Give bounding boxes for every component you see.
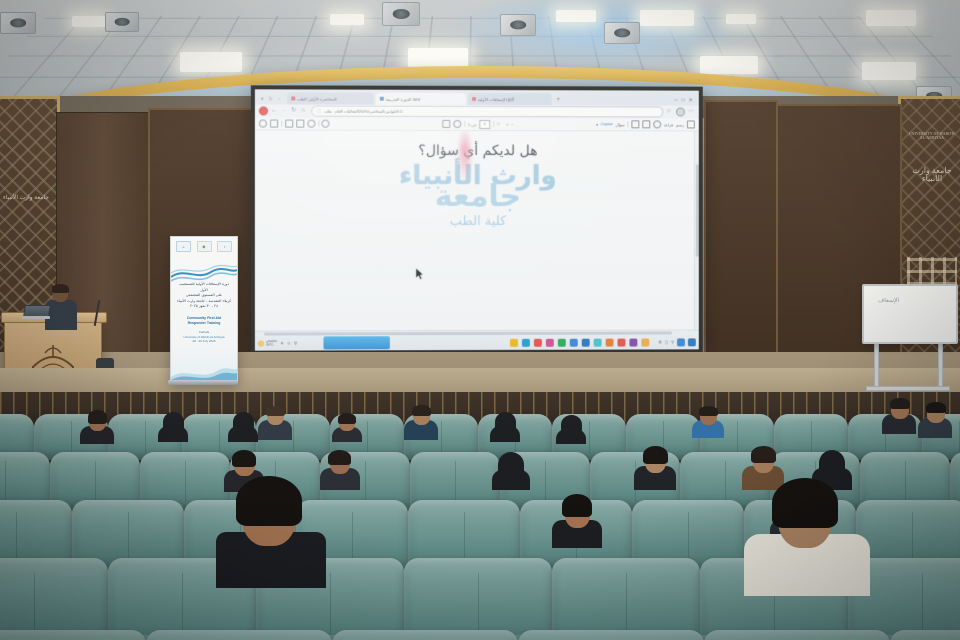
seat-crease [330,573,331,638]
audience-member [320,450,360,490]
seat-crease [5,461,6,500]
presenter-hair [52,284,69,293]
browser-tab-title: الإسعافات الأولية pdf [478,96,514,101]
banner-arabic-line-1: دورة الإسعافات الأولية للمستجيب الأول [175,282,233,293]
copilot-label: Copilot [601,122,613,126]
seat-crease [16,512,17,561]
seat-crease [95,461,96,500]
seat-crease [367,421,368,452]
pdf-read-aloud-icon[interactable] [653,120,661,128]
wall-emblem-english: UNIVERSITY OF WARITH AL-ANBIYAA [906,133,958,141]
profile-avatar[interactable] [676,108,685,117]
pdf-read-aloud-label[interactable]: قراءة [664,122,673,127]
presenter-laptop [22,305,50,317]
audience-member [882,398,916,434]
pdf-fit-icon[interactable] [270,120,278,128]
banner-base-stand [168,380,238,385]
wall-panel-center-dark [704,100,778,360]
person-hair [926,402,946,413]
browser-tab-active[interactable]: الدورة التدريبية new [375,93,465,105]
scrollbar-thumb[interactable] [695,164,698,257]
ac-diffuser [105,12,139,32]
person-hair [772,478,838,528]
ac-diffuser [382,2,420,26]
person-hair [338,413,356,424]
audience-member-foreground [216,476,326,588]
seat-crease [145,421,146,452]
ceiling-light-panel [862,62,916,80]
seat-crease [725,461,726,500]
aisle-floor [0,368,960,394]
toolbar-divider [628,121,629,127]
tray-settings-icon[interactable]: ⚙ [658,339,662,344]
ceiling-light-panel [726,14,756,24]
person-hair [328,450,351,465]
wall-emblem-left: جامعة وارث الأنبياء [3,195,49,201]
person-hair [236,476,302,526]
whiteboard-base-bar [866,386,950,391]
audience-member [332,414,362,442]
seat-back [552,558,700,640]
new-tab-button[interactable]: + [553,97,562,105]
person-hijab [819,450,845,476]
seat-crease [441,421,442,452]
audience-member [552,494,602,548]
audience-member [492,452,530,490]
toolbar-divider [464,121,465,127]
taskbar-app-acrobat-icon[interactable] [630,338,638,346]
pdf-vertical-scrollbar[interactable] [694,131,699,334]
seat-crease [352,512,353,561]
tab-favicon-doc-icon [379,97,383,101]
pdf-save-icon[interactable] [642,120,650,128]
banner-logo-row: ⚔ 🌳 ⚕ [171,237,237,252]
tab-favicon-pdf-icon [291,96,295,100]
auditorium-seat[interactable] [332,630,518,640]
ceiling-light-panel [180,52,242,72]
seat-crease [737,421,738,452]
banner-logo-university-icon: ⚔ [176,241,191,252]
seat-crease [182,573,183,638]
seat-back [404,558,552,640]
browser-tab[interactable]: الإسعافات الأولية pdf [468,93,552,105]
seat-crease [365,461,366,500]
toolbar-divider [493,121,494,127]
logo-college-of-medicine: كلية الطب [399,214,557,229]
toolbar-divider [281,121,282,127]
windows-taskbar: مشمس 34°C ☀ ☺ ⚲ [255,334,699,350]
wall-emblem-arabic: جامعة وارث الأنبياء [906,167,958,184]
home-icon[interactable]: ⌂ [301,108,308,115]
audience-member [918,404,952,438]
browser-nav-bar: ← → ↻ ⌂ D:/القوانين/المحاضرة/2025الفعالي… [255,104,699,118]
tray-notification-icon[interactable] [688,338,696,346]
taskbar-app-powerpoint-icon[interactable] [534,338,542,346]
tab-search-icon[interactable]: ▾ [261,96,264,102]
ceiling-light-panel [556,10,596,22]
taskbar-app-folder-icon[interactable] [641,338,649,346]
banner-english-line-2: Responder Training [171,321,237,326]
taskbar-search-icon[interactable]: ⚲ [294,341,297,346]
ceiling-light-panel [330,14,364,25]
seat-row [0,630,960,640]
minimize-icon[interactable]: ─ [674,98,678,104]
projected-desktop: ▾ ↻ − المحاضرة الأولى الطب الدورة التدري… [255,89,699,350]
pdf-sidebar-icon[interactable] [259,119,267,127]
copilot-icon: ✦ [595,122,598,127]
taskbar-app-word-icon[interactable] [570,338,578,346]
person-hijab [233,412,254,432]
seat-crease [464,512,465,561]
refresh-icon[interactable]: ↻ [291,108,298,115]
audience-member [634,446,676,490]
pdf-page-navigation: من 1 1 □ + − [442,119,513,128]
auditorium-seat[interactable] [0,630,146,640]
seat-back [890,630,960,640]
seat-crease [128,512,129,561]
address-bar[interactable]: D:/القوانين/المحاضرة/2025الفعاليات العام… [311,106,663,118]
audience-member [258,406,292,440]
person-hair [890,398,910,409]
pdf-page-of-label: من 1 [468,121,477,126]
ceiling-light-panel [700,56,758,74]
person-hair [643,446,668,464]
taskbar-app-explorer-icon[interactable] [510,338,518,346]
banner-logo-health-icon: ⚕ [217,241,232,252]
banner-dates: 28 - 30 July 2025 [171,339,237,344]
person-hijab [561,415,582,434]
audience-member [692,406,724,438]
seat-crease [71,421,72,452]
address-bar-prefix: ملف [324,109,331,114]
tab-minimize-icon[interactable]: − [278,96,281,102]
person-hair [751,446,776,463]
person-hair [88,410,107,424]
ac-diffuser [916,86,952,96]
tab-strip-left-controls[interactable]: ▾ ↻ − [258,96,285,104]
taskbar-app-chrome-icon[interactable] [594,338,602,346]
pdf-page-input[interactable]: 1 [479,120,490,129]
seat-back [518,630,704,640]
taskbar-app-firefox-icon[interactable] [618,338,626,346]
audience-member [556,416,586,444]
toolbar-divider [318,121,319,127]
weather-temp: 34°C [266,342,274,346]
pdf-view-mode-icon[interactable] [442,120,450,128]
mouse-cursor-icon [416,268,425,280]
ac-diffuser [500,14,536,36]
auditorium-seat[interactable] [0,558,108,640]
pdf-erase-icon[interactable] [307,120,315,128]
auditorium-seat[interactable] [890,630,960,640]
browser-tab-title: الدورة التدريبية new [385,96,420,101]
banner-english-title: Community First Aid Responder Training [171,316,237,327]
whiteboard-writing: الإسعاف [878,298,899,305]
pdf-search-icon[interactable] [322,120,330,128]
seat-crease [589,421,590,452]
audience-member [228,412,258,442]
taskbar-widget-icon[interactable]: ☀ [280,341,284,346]
audience-member [404,406,438,440]
seat-crease [34,573,35,638]
browser-tab-strip: ▾ ↻ − المحاضرة الأولى الطب الدورة التدري… [255,89,699,105]
rollup-banner: ⚔ 🌳 ⚕ دورة الإسعافات الأولية للمستجيب ال… [170,236,238,384]
address-bar-value: D:/القوانين/المحاضرة/2025الفعاليات العام [335,109,403,114]
taskbar-active-window-highlight [323,336,389,349]
seat-crease [811,421,812,452]
pdf-more-icon[interactable] [687,120,695,128]
pdf-zoom-in-button[interactable]: + [506,122,508,127]
ceiling-light-panel [640,10,694,26]
pdf-rotate-icon[interactable] [453,120,461,128]
ceiling-light-panel [408,48,468,68]
taskbar-chat-icon[interactable]: ☺ [287,341,291,346]
copilot-button[interactable]: ✦ Copilot [595,122,612,127]
whiteboard: الإسعاف [862,284,958,344]
taskbar-weather-widget[interactable]: مشمس 34°C [258,339,277,346]
seat-crease [688,512,689,561]
wall-emblem-right: UNIVERSITY OF WARITH AL-ANBIYAA جامعة وا… [906,133,958,183]
audience-member-foreground [744,478,870,596]
edge-logo-icon [259,106,268,115]
taskbar-app-vlc-icon[interactable] [606,338,614,346]
seat-crease [219,421,220,452]
ceiling-light-panel [866,10,916,26]
laptop-base [22,316,50,319]
whiteboard-leg [938,336,943,390]
person-hair [412,405,431,416]
audience-seating [0,392,960,640]
auditorium-seat[interactable] [404,558,552,640]
auditorium-seat[interactable] [552,558,700,640]
browser-tab[interactable]: المحاضرة الأولى الطب [287,92,374,104]
seat-crease [478,573,479,638]
person-hijab [498,452,524,477]
banner-english-details: Karbala University of Warith Al-Anbiyaa … [171,330,237,344]
pdf-toolbar-right: ✦ Copilot سؤال قراءة رسم [595,120,694,128]
slide-question-text: هل لديكم أي سؤال؟ [418,143,537,159]
slide-body: هل لديكم أي سؤال؟ وارث الأنبياء جامعة كل… [255,131,699,336]
seat-crease [293,421,294,452]
banner-arabic-title: دورة الإسعافات الأولية للمستجيب الأول عل… [171,282,237,310]
audience-member [80,410,114,444]
seat-crease [455,461,456,500]
back-icon[interactable]: ← [271,107,278,114]
person-hijab [495,412,516,432]
audience-member [490,412,520,442]
weather-text: مشمس 34°C [266,339,277,346]
banner-arabic-line-4: ٢٨ - ٣٠ تموز ٢٠٢٥ [175,304,233,310]
forward-icon[interactable]: → [281,107,288,114]
ceiling [0,0,960,96]
person-hijab [163,412,184,432]
sun-icon [258,340,264,346]
tab-favicon-pdf-icon [472,97,476,101]
tray-taskview-icon[interactable] [677,338,685,346]
seat-crease [545,461,546,500]
auditorium-seat[interactable] [518,630,704,640]
auditorium-photo: جامعة وارث الأنبياء UNIVERSITY OF WARITH… [0,0,960,640]
pdf-print-icon[interactable] [631,120,639,128]
pdf-highlight-icon[interactable] [296,120,304,128]
taskbar-app-whatsapp-icon[interactable] [558,338,566,346]
seat-crease [905,461,906,500]
person-hair [699,406,718,416]
taskbar-system-tray[interactable]: ⚙ ◻ ⚲ [654,338,695,346]
slide-university-logo: وارث الأنبياء جامعة كلية الطب [399,165,557,229]
pdf-ask-label[interactable]: سؤال [615,122,624,127]
maximize-icon[interactable]: □ [682,98,685,104]
taskbar-app-telegram-icon[interactable] [546,338,554,346]
settings-more-icon[interactable]: ⋯ [688,109,695,116]
seat-back [0,558,108,640]
taskbar-app-edge-icon[interactable] [522,338,530,346]
tray-search-icon[interactable]: ⚲ [671,339,674,344]
audience-member [158,412,188,442]
pdf-page-content: هل لديكم أي سؤال؟ وارث الأنبياء جامعة كل… [255,131,699,336]
auditorium-seat[interactable] [146,630,332,640]
close-icon[interactable]: ✕ [689,98,693,104]
favorites-star-icon[interactable]: ☆ [666,108,673,115]
pdf-viewer-toolbar: من 1 1 □ + − ✦ Copilot سؤال [255,117,699,131]
ac-diffuser [0,12,36,34]
seat-back [146,630,332,640]
tray-network-icon[interactable]: ◻ [665,339,668,344]
ceiling-light-panel [72,16,106,27]
seat-crease [626,573,627,638]
seat-back [704,630,890,640]
browser-tab-title: المحاضرة الأولى الطب [297,96,337,101]
auditorium-seat[interactable] [704,630,890,640]
pdf-fit-page-icon[interactable]: □ [497,121,503,127]
banner-logo-ngo-icon: 🌳 [197,241,212,252]
taskbar-app-icons[interactable] [510,338,651,346]
projection-screen: ▾ ↻ − المحاضرة الأولى الطب الدورة التدري… [251,85,703,354]
seat-crease [922,573,923,638]
whiteboard-leg [874,336,879,390]
wall-emblem-arabic: جامعة وارث الأنبياء [3,195,49,201]
person-hair [232,450,256,467]
seat-back [332,630,518,640]
pdf-draw-icon[interactable] [285,120,293,128]
seat-crease [912,512,913,561]
person-hair [562,494,592,517]
tab-history-icon[interactable]: ↻ [269,96,273,102]
seat-crease [185,461,186,500]
pdf-draw-label[interactable]: رسم [676,122,684,127]
pdf-toolbar-left [259,119,330,127]
seat-back [0,630,146,640]
ac-diffuser [604,22,640,44]
window-controls[interactable]: ─ □ ✕ [671,98,696,106]
taskbar-app-excel-icon[interactable] [582,338,590,346]
pdf-zoom-out-button[interactable]: − [511,122,513,127]
person-hair [266,406,285,416]
file-icon: 📄 [316,109,321,114]
